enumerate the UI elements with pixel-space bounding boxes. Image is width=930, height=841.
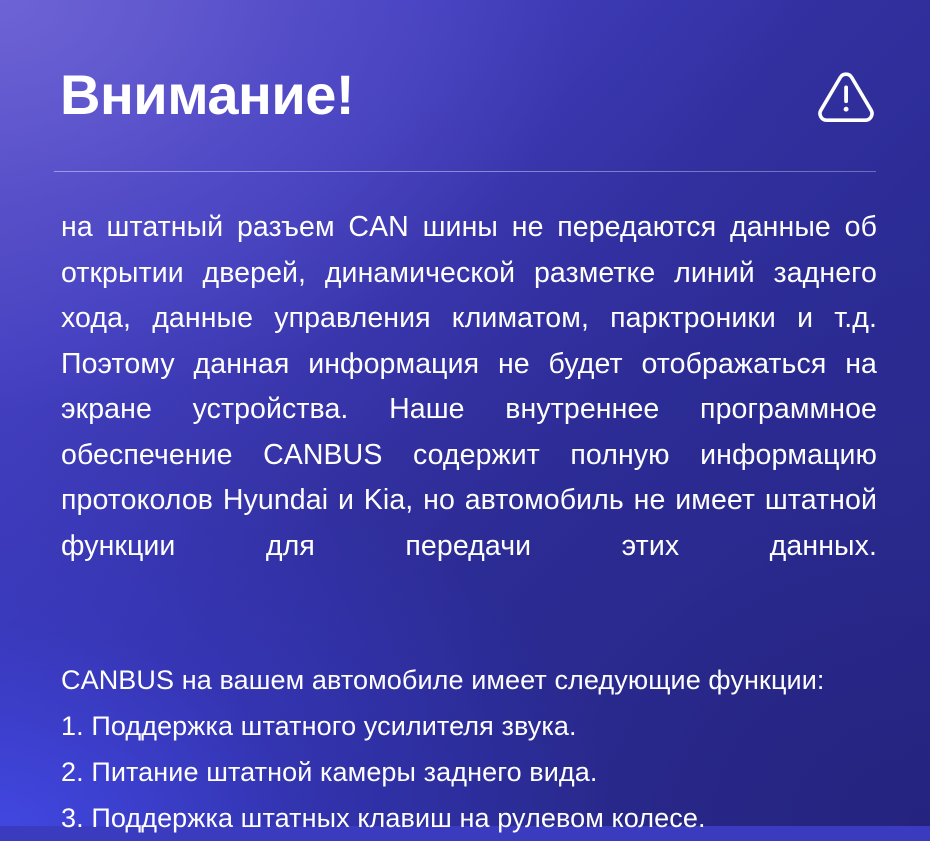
functions-list: 1. Поддержка штатного усилителя звука. 2… xyxy=(61,703,877,841)
page-title: Внимание! xyxy=(60,62,354,128)
warning-notice-card: Внимание! на штатный разъем CAN шины не … xyxy=(0,0,930,826)
card-body: на штатный разъем CAN шины не передаются… xyxy=(61,205,877,841)
functions-intro: CANBUS на вашем автомобиле имеет следующ… xyxy=(61,657,877,703)
list-item-label: Поддержка штатного усилителя звука. xyxy=(91,711,576,741)
list-item: 1. Поддержка штатного усилителя звука. xyxy=(61,703,877,749)
list-item-label: Питание штатной камеры заднего вида. xyxy=(91,757,597,787)
list-item-label: Поддержка штатных клавиш на рулевом коле… xyxy=(91,803,705,833)
header-divider xyxy=(54,171,876,172)
list-item: 2. Питание штатной камеры заднего вида. xyxy=(61,749,877,795)
list-item-index: 3. xyxy=(61,803,84,833)
warning-triangle-icon xyxy=(818,72,874,122)
card-header: Внимание! xyxy=(60,52,875,138)
functions-block: CANBUS на вашем автомобиле имеет следующ… xyxy=(61,657,877,841)
list-item-index: 1. xyxy=(61,711,84,741)
list-item: 3. Поддержка штатных клавиш на рулевом к… xyxy=(61,795,877,841)
list-item-index: 2. xyxy=(61,757,84,787)
notice-paragraph: на штатный разъем CAN шины не передаются… xyxy=(61,205,877,615)
